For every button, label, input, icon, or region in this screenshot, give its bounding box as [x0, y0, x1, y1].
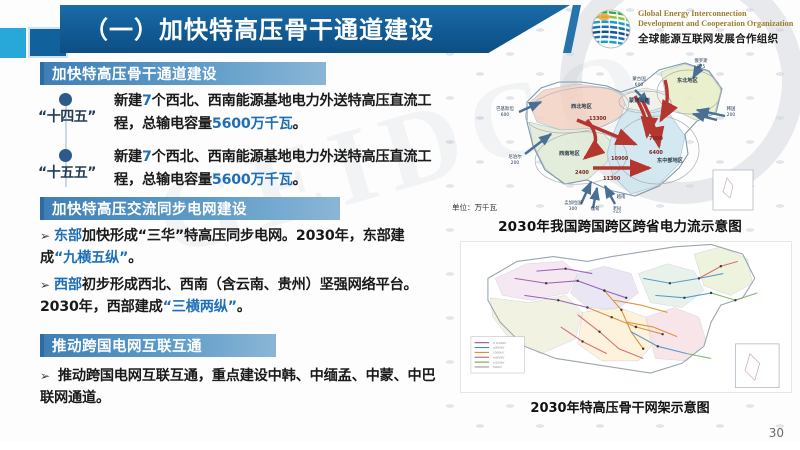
- uhv-backbone-map-caption: 2030年特高压骨干网架示意图: [450, 397, 790, 416]
- svg-text:±800kV: ±800kV: [493, 346, 505, 350]
- section-header-uhv-ac: 加快特高压交流同步电网建设: [40, 197, 340, 220]
- map-country-value: 300: [569, 206, 578, 212]
- map-country-label: 老挝: [613, 205, 622, 212]
- map-country-label: 孟加拉国: [564, 199, 582, 206]
- txt-seg-highlight: 西部: [54, 277, 82, 293]
- bullet-cross-border: ➢推动跨国电网互联互通，重点建设中韩、中缅孟、中蒙、中巴联网通道。: [40, 365, 440, 409]
- txt-seg-highlight: 7: [142, 93, 152, 109]
- logo-cn-line: 全球能源互联网发展合作组织: [638, 31, 800, 46]
- map-unit-note: 单位：万千瓦: [452, 202, 497, 213]
- map-flow-value: 10900: [611, 156, 629, 162]
- txt-seg-highlight: 5600万千瓦: [212, 172, 293, 188]
- svg-text:±660kV: ±660kV: [493, 355, 505, 359]
- map-country-label: 越南: [617, 193, 626, 200]
- timeline-dot-icon: [59, 149, 72, 162]
- map-region-label: 东北地区: [677, 76, 699, 84]
- power-flow-map: 西北地区 西南地区 东北地区 蒙西山西 东中部地区 13300 10900 70…: [454, 58, 794, 213]
- section-header-label: 加快特高压骨干通道建设: [44, 63, 217, 84]
- power-flow-map-caption: 2030年我国跨国跨区跨省电力流示意图: [450, 215, 790, 235]
- map-country-value: 200: [727, 112, 736, 118]
- map-country-value: 200: [511, 160, 520, 166]
- txt-seg: 。: [293, 116, 307, 132]
- txt-seg: 推动跨国电网互联互通，重点建设中韩、中缅孟、中蒙、中巴联网通道。: [40, 368, 436, 406]
- timeline-item-14th: “十四五” 新建7个西北、西南能源基地电力外送特高压直流工程，总输电容量5600…: [18, 93, 448, 139]
- txt-seg: 。: [128, 250, 142, 266]
- txt-seg-highlight: 东部: [54, 228, 82, 244]
- txt-seg-highlight: 5600万千瓦: [212, 116, 293, 132]
- uhv-backbone-map: ±1100kV±800kV 1000kV±660kV ±500kV500kV: [460, 241, 792, 393]
- map-flow-value: 13300: [589, 116, 607, 122]
- logo-en-line2: Development and Cooperation Organization: [638, 19, 800, 29]
- txt-seg: 。: [237, 299, 251, 315]
- map-flow-value: 7000: [649, 136, 663, 142]
- five-year-plan-timeline: “十四五” 新建7个西北、西南能源基地电力外送特高压直流工程，总输电容量5600…: [18, 93, 448, 197]
- timeline-item-15th: “十五五” 新建7个西北、西南能源基地电力外送特高压直流工程，总输电容量5600…: [18, 149, 448, 195]
- map-country-label: 尼泊尔: [508, 153, 522, 160]
- map-region-label: 西南地区: [559, 149, 581, 157]
- page-number: 30: [769, 426, 784, 440]
- map-country-label: 韩国: [727, 105, 736, 112]
- section-header-label: 加快特高压交流同步电网建设: [44, 198, 247, 219]
- globe-logo-icon: [590, 8, 632, 50]
- svg-text:±1100kV: ±1100kV: [493, 341, 507, 345]
- slide-bottom-strip: [0, 442, 800, 450]
- organization-name: Global Energy Interconnection Developmen…: [638, 9, 800, 46]
- txt-seg: 新建: [114, 93, 142, 109]
- svg-text:500kV: 500kV: [493, 365, 502, 369]
- map-region-label: 蒙西山西: [629, 96, 650, 104]
- map-flow-value: 6400: [649, 150, 663, 156]
- timeline-text-14th: 新建7个西北、西南能源基地电力外送特高压直流工程，总输电容量5600万千瓦。: [114, 90, 444, 136]
- map-country-label: 蒙古国: [632, 75, 646, 82]
- txt-seg-highlight: “三横两纵”: [163, 299, 237, 315]
- arrow-bullet-icon: ➢: [40, 229, 50, 243]
- map-country-value: 200: [613, 211, 622, 213]
- timeline-label-14th: “十四五”: [24, 106, 110, 126]
- arrow-bullet-icon: ➢: [40, 278, 50, 292]
- map-country-label: 俄罗斯: [694, 58, 708, 64]
- header-accent-square-cyan: [0, 28, 26, 58]
- txt-seg-highlight: 7: [142, 149, 152, 165]
- logo-en-line1: Global Energy Interconnection: [638, 9, 800, 19]
- txt-seg-highlight: “九横五纵”: [54, 250, 128, 266]
- page-title: （一）加快特高压骨干通道建设: [84, 12, 434, 48]
- map-country-value: 600: [501, 112, 510, 118]
- timeline-text-15th: 新建7个西北、西南能源基地电力外送特高压直流工程，总输电容量5600万千瓦。: [114, 146, 444, 192]
- map-region-label: 西北地区: [571, 102, 593, 110]
- map-country-value: 875: [697, 64, 706, 70]
- map-country-label: 缅甸: [591, 205, 600, 212]
- section-header-label: 推动跨国电网互联互通: [44, 335, 202, 356]
- txt-seg: 。: [293, 172, 307, 188]
- svg-text:1000kV: 1000kV: [493, 351, 504, 355]
- txt-seg: 新建: [114, 149, 142, 165]
- map-country-value: 600: [635, 82, 644, 88]
- bullet-west-grid: ➢西部初步形成西北、西南（含云南、贵州）坚强网络平台。2030年，西部建成“三横…: [40, 274, 440, 318]
- map-country-label: 巴基斯坦: [496, 105, 514, 112]
- timeline-dot-icon: [59, 93, 72, 106]
- map-flow-value: 2400: [575, 170, 589, 176]
- map-region-label: 东中部地区: [657, 156, 684, 164]
- section-header-uhv-dc: 加快特高压骨干通道建设: [40, 62, 326, 85]
- section-header-cross-border: 推动跨国电网互联互通: [40, 334, 276, 357]
- arrow-bullet-icon: ➢: [40, 369, 50, 383]
- map-flow-value: 11300: [603, 176, 621, 182]
- timeline-label-15th: “十五五”: [24, 162, 110, 182]
- svg-text:±500kV: ±500kV: [493, 360, 505, 364]
- slide-root: GEIDCO （一）加快特高压骨干通道建设: [0, 0, 800, 450]
- left-content-column: 加快特高压骨干通道建设 “十四五” 新建7个西北、西南能源基地电力外送特高压直流…: [18, 62, 448, 440]
- slide-header: （一）加快特高压骨干通道建设: [0, 0, 800, 58]
- bullet-east-grid: ➢东部加快形成“三华”特高压同步电网。2030年，东部建成“九横五纵”。: [40, 225, 440, 269]
- header-diagonal-slash-icon: [563, 5, 581, 53]
- right-figure-column: 西北地区 西南地区 东北地区 蒙西山西 东中部地区 13300 10900 70…: [450, 58, 790, 416]
